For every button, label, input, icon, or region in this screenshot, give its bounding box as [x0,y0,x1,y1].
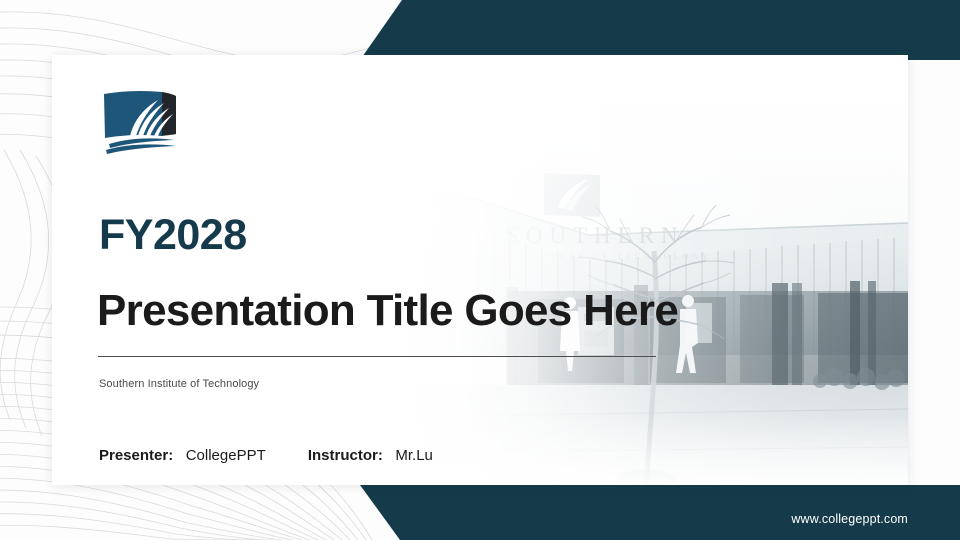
instructor-label: Instructor: [308,447,383,464]
top-right-accent-wedge [360,0,960,60]
presenter-instructor-row: Presenter: CollegePPT Instructor: Mr.Lu [99,447,433,464]
organization-name: Southern Institute of Technology [99,378,259,390]
presenter-value: CollegePPT [186,447,266,464]
footer-website-url[interactable]: www.collegeppt.com [791,512,908,526]
presentation-slide: SOUTHERN INSTITUTE OF TECHNOLOGY [0,0,960,540]
page-title: Presentation Title Goes Here [97,289,678,333]
presenter-label: Presenter: [99,447,173,464]
title-divider [98,356,656,357]
fiscal-year-heading: FY2028 [99,214,247,257]
slide-content-card: SOUTHERN INSTITUTE OF TECHNOLOGY [52,55,908,485]
title-block: FY2028 Presentation Title Goes Here Sout… [52,55,908,485]
instructor-value: Mr.Lu [395,447,433,464]
southern-institute-of-technology-logo [100,88,182,156]
